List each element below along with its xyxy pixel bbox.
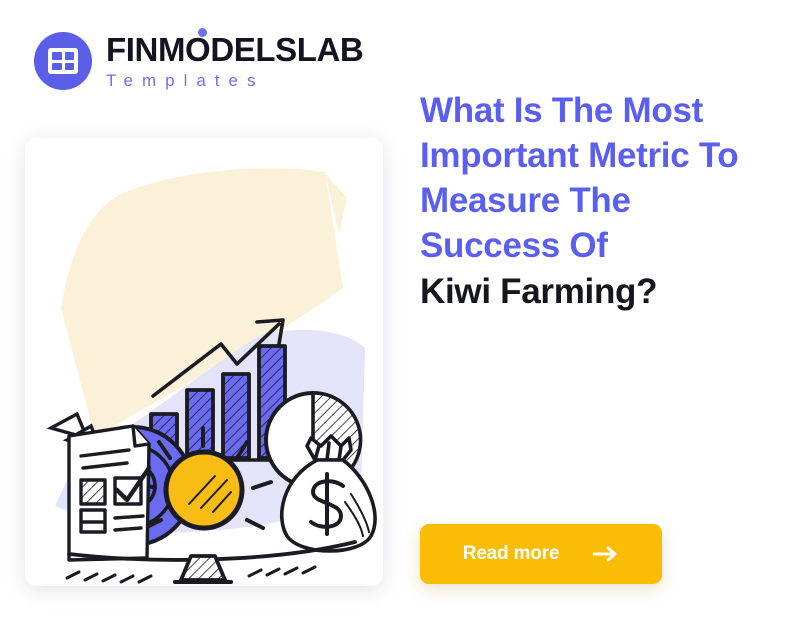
brand-logo[interactable]: FINMODELSLAB Templates bbox=[34, 32, 363, 90]
arrow-right-icon bbox=[593, 546, 619, 562]
illustration-card bbox=[25, 138, 383, 586]
logo-text: FINMODELSLAB Templates bbox=[106, 33, 363, 89]
read-more-button[interactable]: Read more bbox=[420, 524, 662, 584]
page-title: What Is The Most Important Metric To Mea… bbox=[420, 88, 768, 314]
brand-name-text: FINMODELSLAB bbox=[106, 31, 363, 68]
checklist-document-icon bbox=[69, 426, 149, 560]
business-metrics-illustration bbox=[25, 138, 383, 586]
logo-mark bbox=[34, 32, 92, 90]
headline-accent: Kiwi Farming? bbox=[420, 269, 768, 314]
brand-name: FINMODELSLAB bbox=[106, 33, 363, 66]
grid-squares-icon bbox=[48, 48, 78, 74]
brand-dot-accent bbox=[198, 28, 207, 37]
brand-tagline: Templates bbox=[106, 72, 363, 89]
headline-primary: What Is The Most Important Metric To Mea… bbox=[420, 91, 738, 265]
promo-banner: FINMODELSLAB Templates bbox=[0, 0, 800, 618]
read-more-label: Read more bbox=[463, 543, 559, 565]
